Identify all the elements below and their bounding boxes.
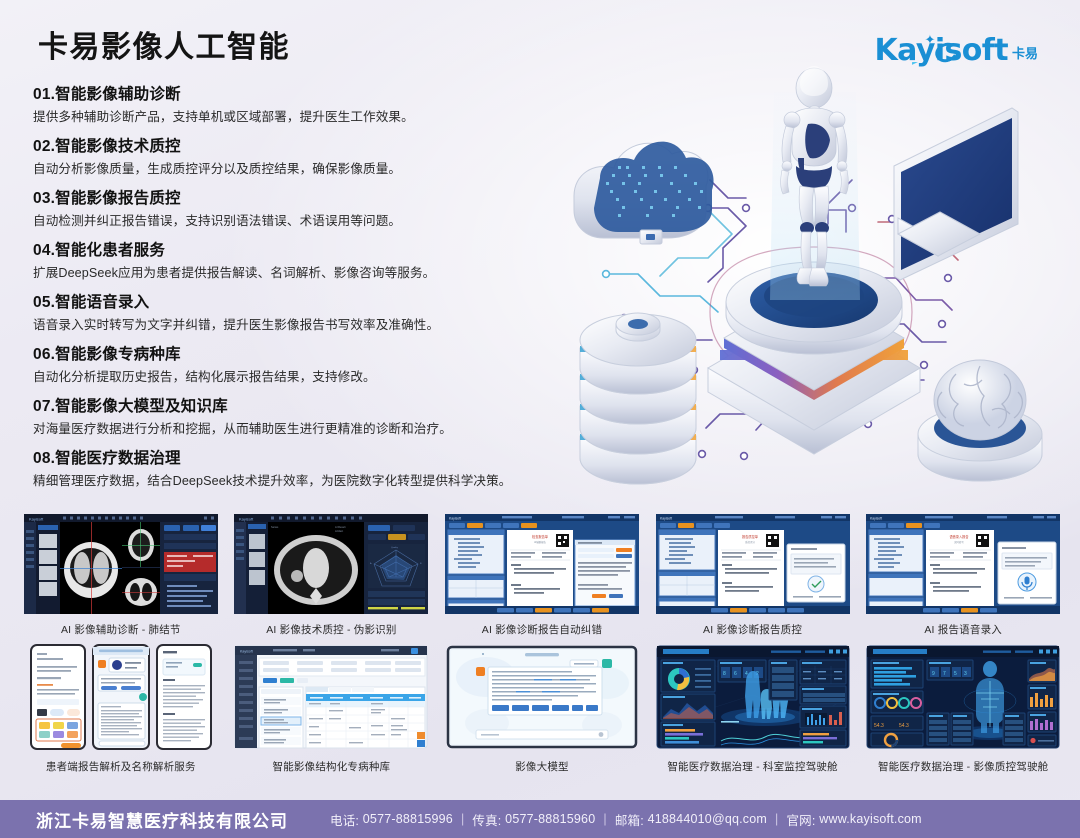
footer-fax-label: 传真:: [472, 810, 501, 829]
gallery-item[interactable]: Kayisoft 报告质控单 质控评分: [650, 512, 856, 637]
thumbnail-report-voice-input[interactable]: Kayisoft 语音录入报告 实时转写: [860, 512, 1066, 616]
footer-site-label: 官网:: [786, 810, 815, 829]
feature-desc: 自动化分析提取历史报告，结构化展示报告结果，支持修改。: [33, 367, 553, 387]
svg-text:语音录入报告: 语音录入报告: [950, 534, 969, 539]
svg-text:AI Result: AI Result: [335, 525, 346, 529]
feature-heading: 智能影像专病种库: [55, 346, 181, 363]
logo-sparkle-icon: ✦: [925, 33, 936, 46]
feature-item: 01.智能影像辅助诊断 提供多种辅助诊断产品，支持单机或区域部署，提升医生工作效…: [33, 84, 553, 127]
svg-text:报告质控单: 报告质控单: [742, 534, 759, 539]
feature-title: 06.智能影像专病种库: [33, 344, 553, 366]
svg-text:Series: Series: [271, 525, 279, 529]
footer-separator: |: [461, 812, 464, 826]
feature-item: 04.智能化患者服务 扩展DeepSeek应用为患者提供报告解读、名词解析、影像…: [33, 240, 553, 283]
feature-number: 03.: [33, 190, 55, 207]
gallery-item[interactable]: Kayisoft: [229, 641, 435, 774]
feature-title: 08.智能医疗数据治理: [33, 448, 553, 470]
feature-heading: 智能影像报告质控: [55, 190, 181, 207]
feature-item: 07.智能影像大模型及知识库 对海量医疗数据进行分析和挖掘，从而辅助医生进行更精…: [33, 396, 553, 439]
feature-heading: 智能影像大模型及知识库: [55, 398, 228, 415]
footer-phone-label: 电话:: [330, 810, 359, 829]
gallery-caption: 智能医疗数据治理 - 科室监控驾驶舱: [667, 759, 837, 774]
gallery-caption: AI 影像技术质控 - 伪影识别: [266, 622, 396, 637]
svg-text:Kayisoft: Kayisoft: [449, 517, 461, 521]
feature-heading: 智能影像技术质控: [55, 138, 181, 155]
gallery-caption: AI 报告语音录入: [924, 622, 1002, 637]
feature-desc: 提供多种辅助诊断产品，支持单机或区域部署，提升医生工作效果。: [33, 107, 553, 127]
svg-text:54.3: 54.3: [874, 723, 884, 729]
hero-illustration: [560, 62, 1070, 502]
thumbnail-ct-viewer-radar[interactable]: Kayisoft SeriesAI ResultArtifact: [229, 512, 435, 616]
gallery-item[interactable]: 54.354.3 9753: [860, 641, 1066, 774]
thumbnail-report-qc[interactable]: Kayisoft 报告质控单 质控评分: [650, 512, 856, 616]
feature-title: 05.智能语音录入: [33, 292, 553, 314]
svg-text:5: 5: [954, 671, 957, 677]
feature-desc: 自动检测并纠正报告错误，支持识别语法错误、术语误用等问题。: [33, 211, 553, 231]
feature-item: 03.智能影像报告质控 自动检测并纠正报告错误，支持识别语法错误、术语误用等问题…: [33, 188, 553, 231]
footer-bar: 浙江卡易智慧医疗科技有限公司 电话: 0577-88815996 | 传真: 0…: [0, 800, 1080, 838]
thumbnail-three-phones[interactable]: [18, 641, 224, 753]
screenshot-gallery: Kayisoft: [18, 512, 1066, 778]
gallery-caption: 智能影像结构化专病种库: [273, 759, 391, 774]
logo-chinese-mark: 卡易: [1012, 43, 1038, 62]
feature-item: 02.智能影像技术质控 自动分析影像质量，生成质控评分以及质控结果，确保影像质量…: [33, 136, 553, 179]
svg-text:Kayisoft: Kayisoft: [29, 517, 44, 522]
feature-heading: 智能医疗数据治理: [55, 450, 181, 467]
gallery-item[interactable]: Kayisoft 检查报告单 AI辅助报: [439, 512, 645, 637]
gallery-caption: 患者端报告解析及名称解析服务: [46, 759, 196, 774]
gallery-item[interactable]: 影像大模型: [439, 641, 645, 774]
svg-text:AI辅助报告: AI辅助报告: [534, 540, 546, 544]
feature-item: 06.智能影像专病种库 自动化分析提取历史报告，结构化展示报告结果，支持修改。: [33, 344, 553, 387]
svg-text:实时转写: 实时转写: [954, 540, 964, 544]
feature-title: 01.智能影像辅助诊断: [33, 84, 553, 106]
svg-text:54.3: 54.3: [899, 723, 909, 729]
feature-number: 08.: [33, 450, 55, 467]
svg-text:8: 8: [723, 671, 726, 677]
gallery-item[interactable]: Kayisoft SeriesAI ResultArtifact: [229, 512, 435, 637]
feature-desc: 语音录入实时转写为文字并纠错，提升医生影像报告书写效率及准确性。: [33, 315, 553, 335]
gallery-item[interactable]: 8642: [650, 641, 856, 774]
feature-desc: 对海量医疗数据进行分析和挖掘，从而辅助医生进行更精准的诊断和治疗。: [33, 419, 553, 439]
feature-desc: 自动分析影像质量，生成质控评分以及质控结果，确保影像质量。: [33, 159, 553, 179]
feature-title: 02.智能影像技术质控: [33, 136, 553, 158]
feature-item: 08.智能医疗数据治理 精细管理医疗数据，结合DeepSeek技术提升效率，为医…: [33, 448, 553, 491]
feature-number: 01.: [33, 86, 55, 103]
feature-number: 07.: [33, 398, 55, 415]
gallery-row-1: Kayisoft: [18, 512, 1066, 637]
gallery-caption: AI 影像辅助诊断 - 肺结节: [61, 622, 181, 637]
footer-email-label: 邮箱:: [615, 810, 644, 829]
svg-text:Kayisoft: Kayisoft: [239, 517, 254, 522]
footer-company-name: 浙江卡易智慧医疗科技有限公司: [36, 807, 288, 832]
footer-separator: |: [775, 812, 778, 826]
gallery-caption: 影像大模型: [515, 759, 569, 774]
poster-root: 卡易影像人工智能 Kayisoft ✦ 卡易 01.智能影像辅助诊断 提供多种辅…: [0, 0, 1080, 838]
feature-item: 05.智能语音录入 语音录入实时转写为文字并纠错，提升医生影像报告书写效率及准确…: [33, 292, 553, 335]
thumbnail-structured-disease-db[interactable]: Kayisoft: [229, 641, 435, 753]
footer-fax-value: 0577-88815960: [505, 812, 595, 826]
footer-site-value: www.kayisoft.com: [819, 812, 922, 826]
code-monitor-icon: [894, 62, 1018, 280]
thumbnail-llm-chat[interactable]: [439, 641, 645, 753]
thumbnail-dashboard-department[interactable]: 8642: [650, 641, 856, 753]
svg-text:7: 7: [943, 671, 946, 677]
footer-email-value: 418844010@qq.com: [648, 812, 767, 826]
svg-text:Artifact: Artifact: [335, 529, 343, 533]
svg-text:9: 9: [932, 671, 935, 677]
gallery-item[interactable]: Kayisoft: [18, 512, 224, 637]
footer-separator: |: [603, 812, 606, 826]
thumbnail-report-editor-autocorrect[interactable]: Kayisoft 检查报告单 AI辅助报: [439, 512, 645, 616]
feature-title: 03.智能影像报告质控: [33, 188, 553, 210]
gallery-caption: 智能医疗数据治理 - 影像质控驾驶舱: [878, 759, 1048, 774]
feature-heading: 智能语音录入: [55, 294, 149, 311]
gallery-caption: AI 影像诊断报告质控: [703, 622, 802, 637]
feature-desc: 扩展DeepSeek应用为患者提供报告解读、名词解析、影像咨询等服务。: [33, 263, 553, 283]
gallery-item[interactable]: Kayisoft 语音录入报告 实时转写: [860, 512, 1066, 637]
feature-number: 06.: [33, 346, 55, 363]
feature-number: 02.: [33, 138, 55, 155]
svg-text:检查报告单: 检查报告单: [532, 534, 549, 539]
svg-text:Kayisoft: Kayisoft: [870, 517, 882, 521]
svg-text:Kayisoft: Kayisoft: [660, 517, 672, 521]
gallery-item[interactable]: 患者端报告解析及名称解析服务: [18, 641, 224, 774]
feature-heading: 智能影像辅助诊断: [55, 86, 181, 103]
feature-list: 01.智能影像辅助诊断 提供多种辅助诊断产品，支持单机或区域部署，提升医生工作效…: [33, 84, 553, 500]
feature-number: 05.: [33, 294, 55, 311]
svg-text:Kayisoft: Kayisoft: [240, 650, 253, 654]
thumbnail-dashboard-imaging-qc[interactable]: 54.354.3 9753: [860, 641, 1066, 753]
cloud-server-icon: [574, 142, 714, 244]
svg-text:Quality: Quality: [391, 546, 399, 549]
gallery-caption: AI 影像诊断报告自动纠错: [482, 622, 602, 637]
svg-text:6: 6: [734, 671, 737, 677]
feature-title: 04.智能化患者服务: [33, 240, 553, 262]
feature-desc: 精细管理医疗数据，结合DeepSeek技术提升效率，为医院数字化转型提供科学决策…: [33, 471, 553, 491]
brain-pedestal-icon: [918, 360, 1042, 481]
feature-title: 07.智能影像大模型及知识库: [33, 396, 553, 418]
svg-text:3: 3: [964, 671, 967, 677]
footer-phone-value: 0577-88815996: [363, 812, 453, 826]
feature-number: 04.: [33, 242, 55, 259]
database-stack-icon: [580, 313, 696, 484]
gallery-row-2: 患者端报告解析及名称解析服务 Kayisoft: [18, 641, 1066, 774]
thumbnail-ct-viewer-multipane[interactable]: Kayisoft: [18, 512, 224, 616]
feature-heading: 智能化患者服务: [55, 242, 165, 259]
footer-contacts: 电话: 0577-88815996 | 传真: 0577-88815960 | …: [330, 810, 922, 829]
svg-text:质控评分: 质控评分: [745, 540, 755, 544]
